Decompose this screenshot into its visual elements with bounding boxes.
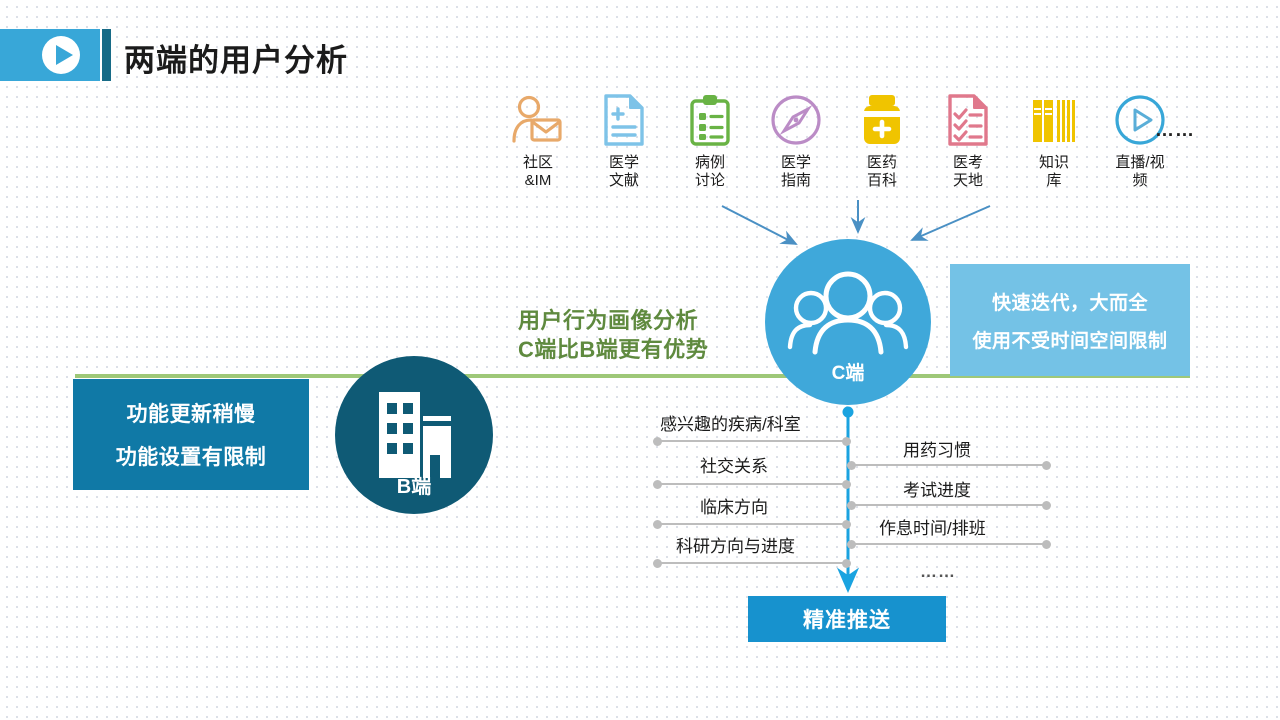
precision-push-box[interactable]: 精准推送	[748, 596, 946, 642]
person-mail-icon	[495, 92, 581, 148]
attr-rule	[657, 562, 847, 564]
b-side-note-box: 功能更新稍慢 功能设置有限制	[73, 379, 309, 490]
icon-label: 医考 天地	[925, 154, 1011, 189]
books-icon	[1011, 92, 1097, 148]
attr-rule	[657, 440, 847, 442]
c-note-line-2: 使用不受时间空间限制	[972, 326, 1167, 353]
title-accent-bar	[102, 29, 111, 81]
attr-label: 作息时间/排班	[879, 514, 986, 539]
attr-label: 考试进度	[903, 476, 971, 501]
center-comparison-text: 用户行为画像分析 C端比B端更有优势	[518, 306, 708, 365]
icon-label: 病例 讨论	[667, 154, 753, 189]
b-side-circle-label: B端	[335, 470, 493, 499]
attr-label: 社交关系	[700, 452, 768, 477]
compass-icon	[753, 92, 839, 148]
icon-label: 医药 百科	[839, 154, 925, 189]
b-note-line-1: 功能更新稍慢	[127, 398, 256, 428]
c-side-note-box: 快速迭代，大而全 使用不受时间空间限制	[950, 264, 1190, 376]
c-note-line-1: 快速迭代，大而全	[992, 288, 1148, 315]
medicine-bottle-icon	[839, 92, 925, 148]
attr-label: 临床方向	[700, 493, 768, 518]
document-plus-icon	[581, 92, 667, 148]
attr-dot-right	[842, 437, 851, 446]
icon-label: 医学 文献	[581, 154, 667, 189]
clipboard-list-icon	[667, 92, 753, 148]
attr-dot-left	[653, 520, 662, 529]
icon-cell-guideline[interactable]: 医学 指南	[753, 92, 839, 189]
attr-dot-right	[1042, 501, 1051, 510]
attr-label: 科研方向与进度	[676, 532, 795, 557]
icon-label: 社区 &IM	[495, 154, 581, 189]
connector-top-dot	[843, 407, 854, 418]
attr-dot-right	[1042, 540, 1051, 549]
c-side-circle-label: C端	[765, 358, 931, 385]
attr-dot-left	[847, 501, 856, 510]
page-title: 两端的用户分析	[124, 35, 348, 80]
slide-canvas: 两端的用户分析 社区 &IM	[0, 0, 1280, 720]
icon-row-ellipsis: ……	[1155, 120, 1195, 142]
attr-dot-right	[842, 520, 851, 529]
attr-dot-right	[1042, 461, 1051, 470]
attr-dot-right	[842, 480, 851, 489]
icon-label: 医学 指南	[753, 154, 839, 189]
icon-cell-literature[interactable]: 医学 文献	[581, 92, 667, 189]
icon-label: 直播/视 频	[1097, 154, 1183, 189]
icon-cell-pharmacopedia[interactable]: 医药 百科	[839, 92, 925, 189]
attr-dot-right	[842, 559, 851, 568]
arrow-from-right-icons	[912, 206, 990, 240]
checklist-doc-icon	[925, 92, 1011, 148]
icon-label: 知识 库	[1011, 154, 1097, 189]
attr-label: 感兴趣的疾病/科室	[660, 410, 801, 435]
attr-rule	[851, 464, 1047, 466]
attr-dot-left	[847, 461, 856, 470]
precision-push-label: 精准推送	[803, 604, 891, 634]
attr-dot-left	[653, 559, 662, 568]
attr-rule	[657, 523, 847, 525]
center-text-line-2: C端比B端更有优势	[518, 335, 708, 364]
attr-rule	[851, 504, 1047, 506]
play-triangle-icon	[56, 45, 73, 65]
service-icon-row: 社区 &IM 医学 文献	[495, 92, 1215, 192]
icon-cell-knowledge[interactable]: 知识 库	[1011, 92, 1097, 189]
attr-dot-left	[653, 480, 662, 489]
right-list-ellipsis: ……	[920, 562, 956, 582]
icon-cell-case-discussion[interactable]: 病例 讨论	[667, 92, 753, 189]
attr-dot-left	[653, 437, 662, 446]
center-text-line-1: 用户行为画像分析	[518, 306, 708, 335]
attr-dot-left	[847, 540, 856, 549]
b-note-line-2: 功能设置有限制	[116, 441, 267, 471]
icon-cell-exam[interactable]: 医考 天地	[925, 92, 1011, 189]
attr-rule	[657, 483, 847, 485]
attr-label: 用药习惯	[903, 436, 971, 461]
attr-rule	[851, 543, 1047, 545]
icon-cell-community[interactable]: 社区 &IM	[495, 92, 581, 189]
